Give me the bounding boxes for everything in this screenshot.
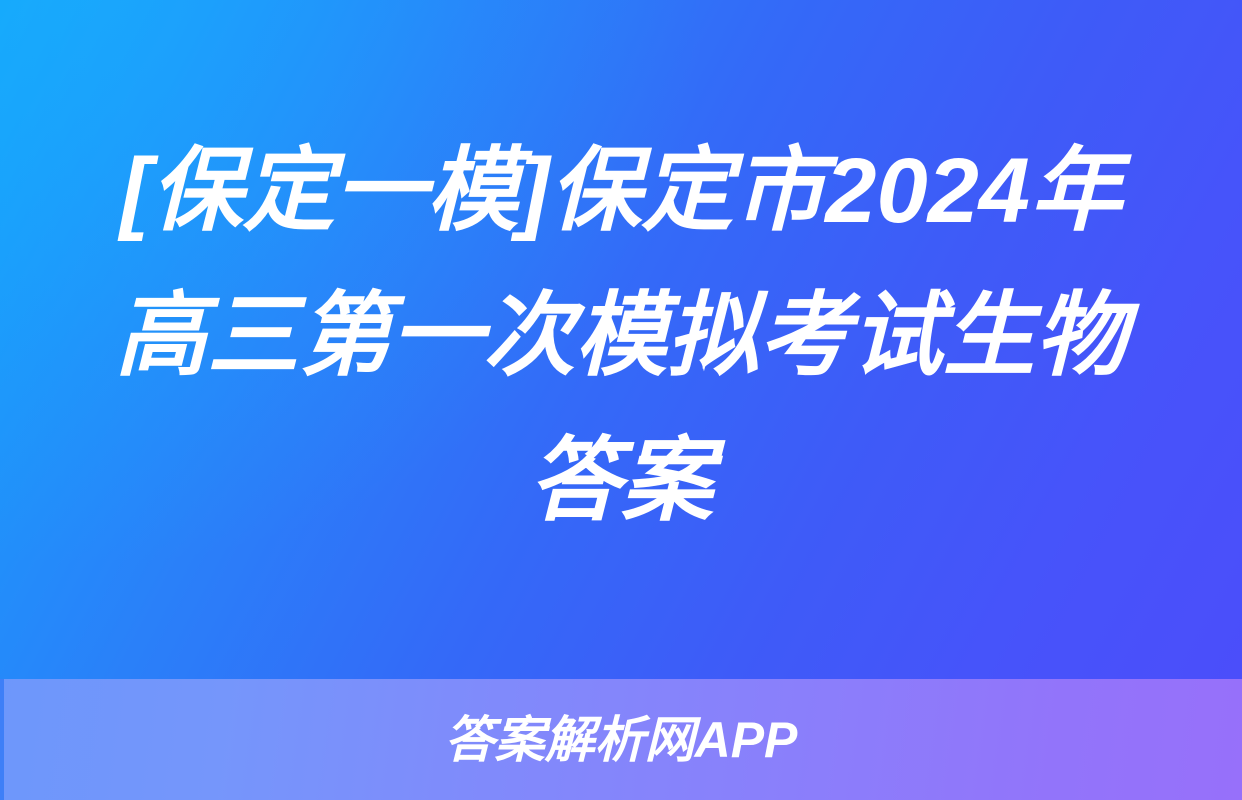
- footer-brand-band: 答案解析网APP: [0, 679, 1242, 800]
- cover-card-canvas: [保定一模]保定市2024年高三第一次模拟考试生物答案 答案解析网APP: [0, 0, 1242, 800]
- footer-brand-inner: 答案解析网APP: [0, 679, 1242, 800]
- page-title: [保定一模]保定市2024年高三第一次模拟考试生物答案: [76, 119, 1166, 562]
- footer-left-edge-accent: [0, 679, 4, 800]
- footer-brand-label: 答案解析网APP: [445, 711, 798, 769]
- hero-title-container: [保定一模]保定市2024年高三第一次模拟考试生物答案: [0, 0, 1242, 680]
